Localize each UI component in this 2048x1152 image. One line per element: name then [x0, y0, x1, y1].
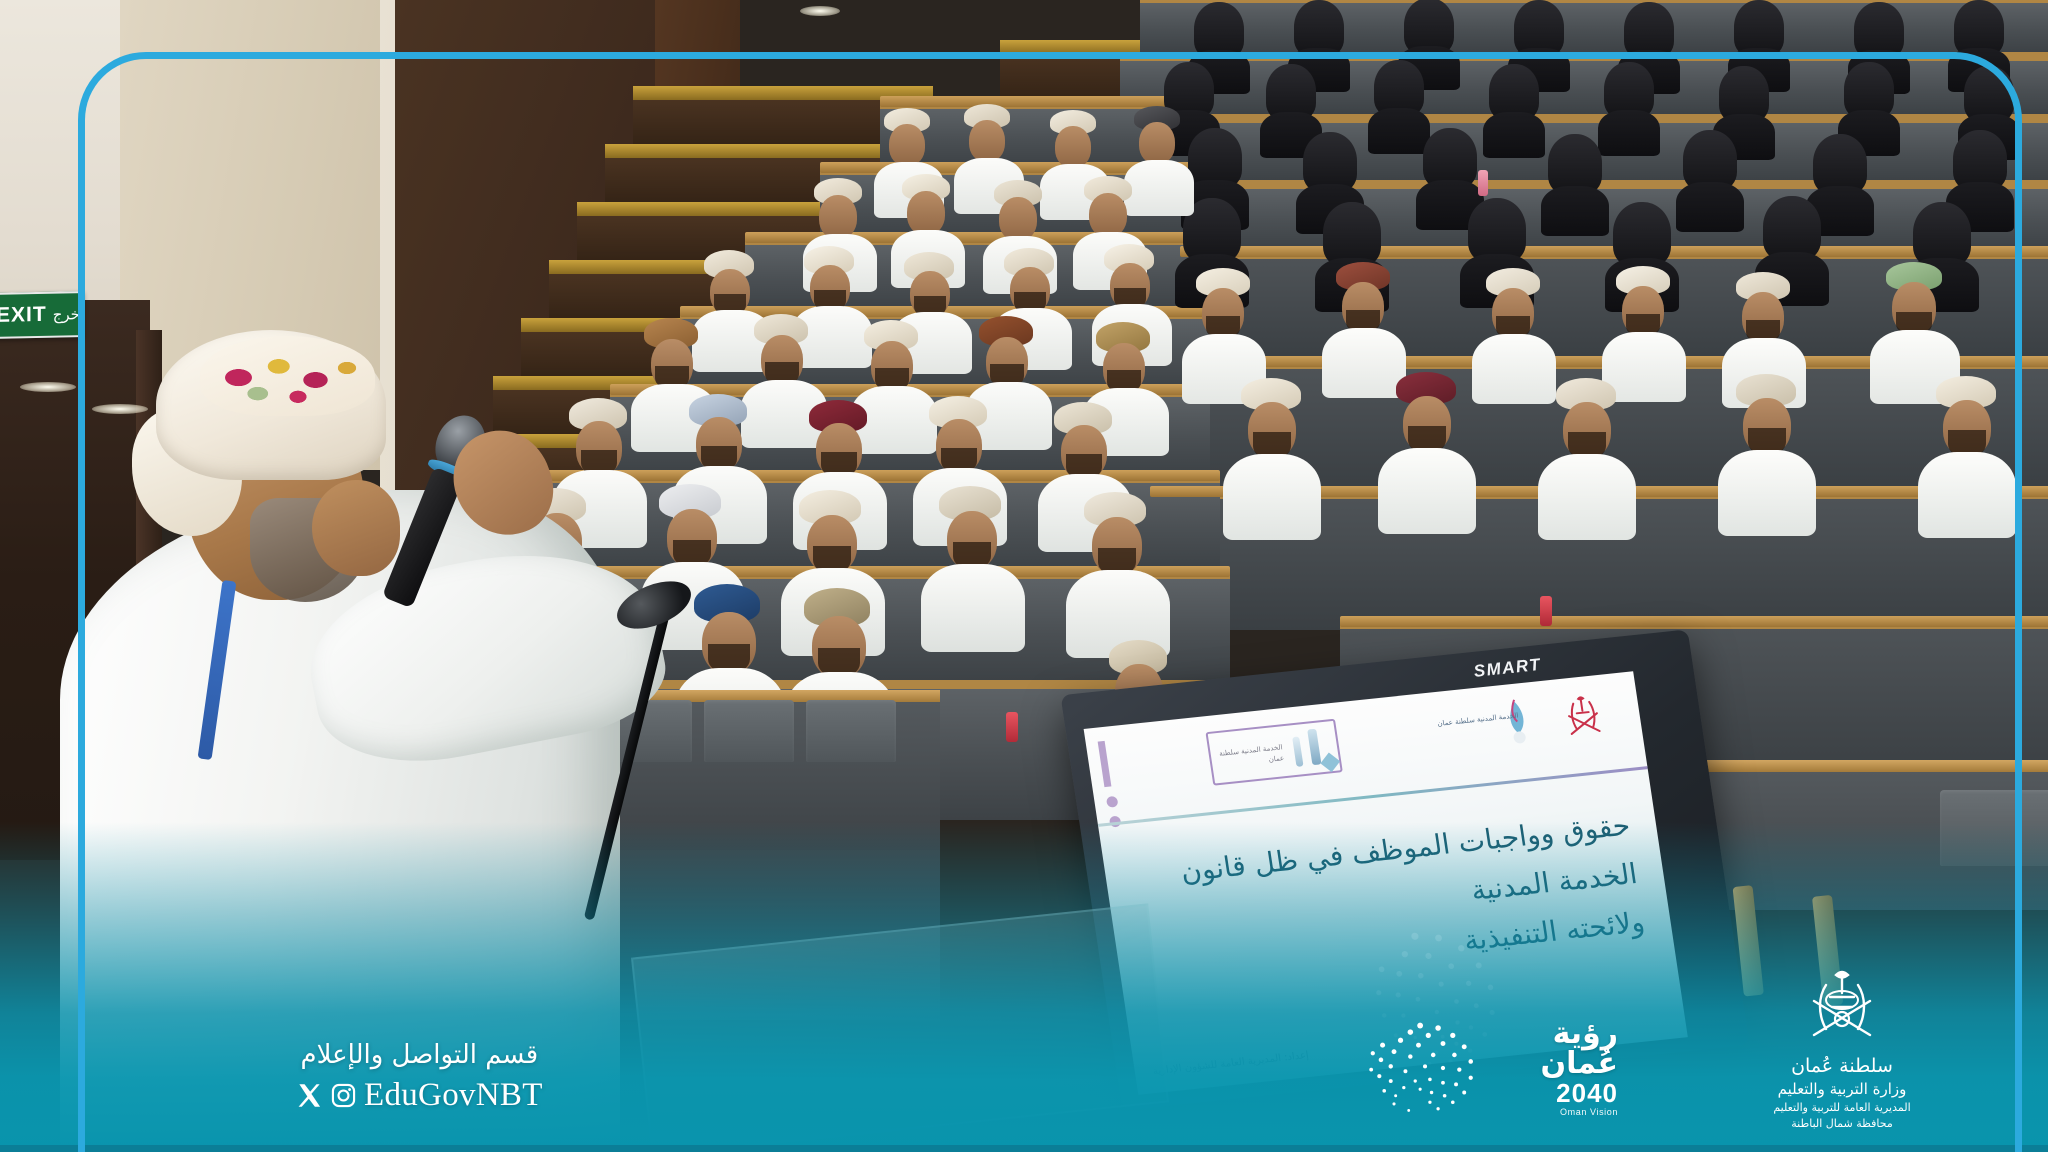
- instagram-icon[interactable]: [330, 1082, 357, 1109]
- ministry-line-2: وزارة التربية والتعليم: [1692, 1080, 1992, 1098]
- seat: [1940, 790, 2048, 866]
- water-bottle: [1540, 596, 1552, 626]
- slide-header-logo: الخدمة المدنية سلطنة عمان: [1205, 719, 1342, 786]
- ministry-line-3: المديرية العامة للتربية والتعليم: [1692, 1101, 1992, 1114]
- speaker-presenter: [60, 330, 680, 1150]
- vision-title-ar: رؤية عُمان: [1483, 1019, 1618, 1079]
- oman-emblem-icon: [1558, 691, 1609, 743]
- seating-tier: [1140, 0, 2048, 52]
- desk-edge: [1340, 616, 2048, 627]
- bottom-rule: [0, 1145, 2048, 1152]
- oman-national-emblem-icon: [1796, 967, 1888, 1051]
- ministry-logo: سلطنة عُمان وزارة التربية والتعليم المدي…: [1692, 967, 1992, 1130]
- social-handle[interactable]: EduGovNBT: [364, 1077, 543, 1114]
- gooseneck-microphone-icon: [615, 585, 815, 925]
- vision-year: 2040: [1483, 1080, 1618, 1106]
- slide-secondary-logo: [1496, 696, 1540, 751]
- slide-credit: إعداد: المديرية العامة للشؤون الإدارية: [1152, 1050, 1309, 1077]
- ministry-line-4: محافظة شمال الباطنة: [1692, 1117, 1992, 1130]
- banner-graphic: EXIT خرج: [0, 0, 2048, 1152]
- exit-sign-label-en: EXIT: [0, 303, 47, 328]
- seat: [806, 700, 896, 762]
- vision-subtitle-en: Oman Vision: [1483, 1108, 1618, 1117]
- ministry-line-1: سلطنة عُمان: [1692, 1055, 1992, 1077]
- oman-vision-2040-logo: رؤية عُمان 2040 Oman Vision: [1363, 1012, 1618, 1124]
- media-department-label: قسم التواصل والإعلام: [296, 1040, 543, 1070]
- water-bottle: [1478, 170, 1488, 196]
- exit-sign-label-ar: خرج: [53, 305, 80, 324]
- water-bottle: [1006, 712, 1018, 742]
- slide-header-logo-text: الخدمة المدنية سلطنة عمان: [1218, 742, 1285, 769]
- vision-spiral-icon: [1363, 1012, 1477, 1124]
- x-twitter-icon[interactable]: [296, 1082, 323, 1109]
- media-credits: قسم التواصل والإعلام EduGovNBT: [296, 1040, 543, 1114]
